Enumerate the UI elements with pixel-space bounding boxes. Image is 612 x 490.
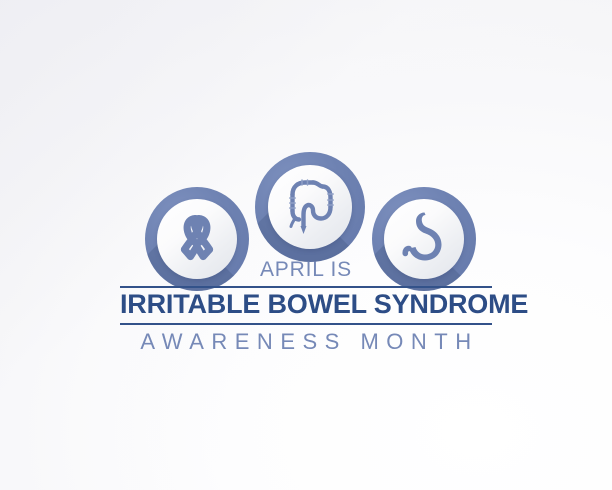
icon-cluster (0, 0, 612, 300)
poster-canvas: APRIL IS IRRITABLE BOWEL SYNDROME AWAREN… (0, 0, 612, 490)
kicker-text: APRIL IS (120, 258, 492, 282)
headline-text: IRRITABLE BOWEL SYNDROME (120, 288, 492, 321)
large-intestine-colon-icon (255, 152, 365, 262)
title-block: APRIL IS IRRITABLE BOWEL SYNDROME AWAREN… (120, 258, 492, 359)
subline-text: AWARENESS MONTH (120, 325, 492, 359)
large-intestine-badge (255, 152, 365, 262)
